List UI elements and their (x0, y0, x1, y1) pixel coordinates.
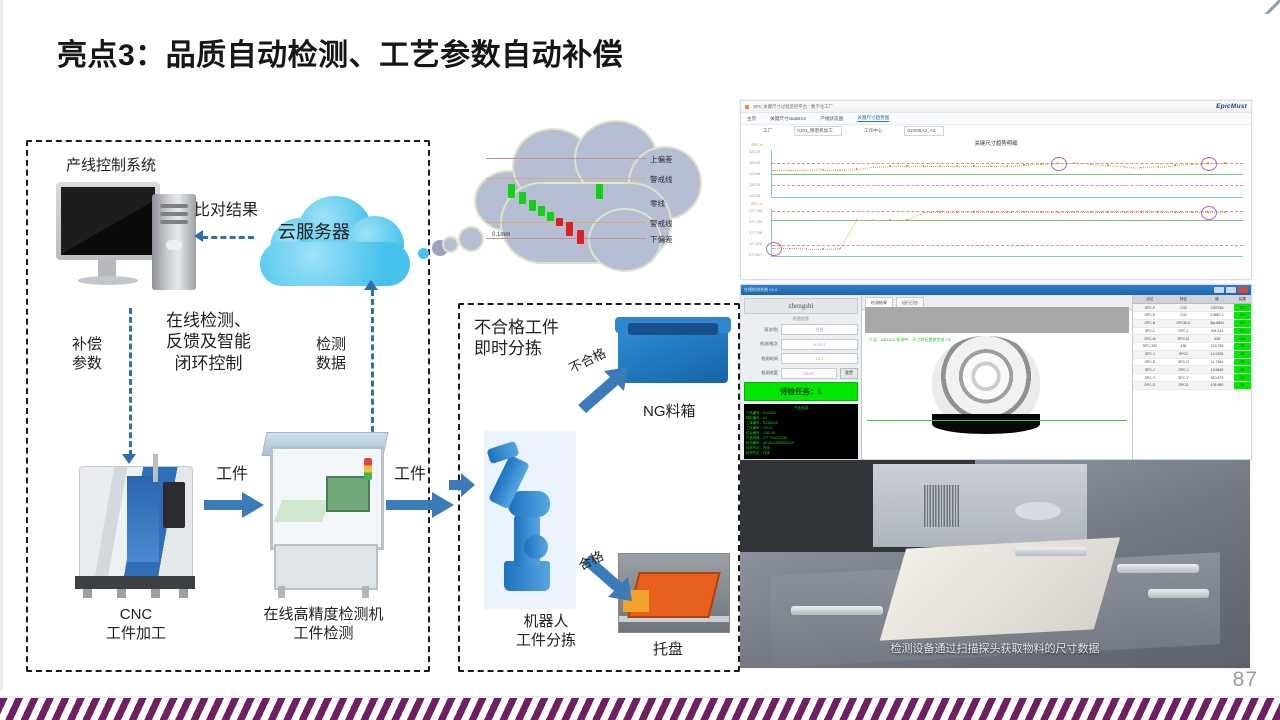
online-detect-label: 在线检测、反馈及智能闭环控制 (166, 310, 251, 374)
spc-chart-0-seg-10 (940, 166, 957, 167)
results-cell-2-0: SPC-B (1133, 319, 1167, 327)
spc-chart-1-point-10[interactable] (940, 211, 942, 213)
spc-menu-item-1[interactable]: 关键尺寸statistics (770, 116, 806, 122)
results-col-3: 结果 (1234, 295, 1251, 304)
spc-chart-1-ytick-1: 277.720 (749, 220, 762, 224)
bubble-unit-label: 0.1mm (492, 232, 510, 238)
results-cell-4-0: SPC-M (1133, 335, 1167, 343)
table-row[interactable]: SPC-JSPC-J13.6848OK (1133, 366, 1251, 374)
results-cell-4-3: OK (1234, 335, 1251, 343)
results-cell-2-3: OK (1234, 319, 1251, 327)
results-cell-9-1: SPC-Y (1167, 374, 1200, 382)
spc-chart-0-seg-23 (1158, 165, 1175, 167)
spc-chart-0-seg-2 (806, 170, 823, 172)
close-button[interactable] (1238, 287, 1248, 293)
spc-chart-0-seg-13 (991, 166, 1008, 167)
results-cell-6-1: SPC1 (1167, 350, 1200, 358)
inspection-field-row-0: 班次/别白班 (744, 324, 858, 335)
inspection-machine-label: 在线高精度检测机工件检测 (256, 606, 391, 644)
spc-chart-0-seg-14 (1007, 165, 1024, 167)
spc-chart-1-seg-22 (1141, 212, 1158, 213)
page-number: 87 (1233, 668, 1258, 692)
spc-chart-0-seg-3 (823, 170, 840, 171)
results-cell-6-0: SPC-1 (1133, 350, 1167, 358)
table-row[interactable]: SPC-LSPC-L324.914OK (1133, 327, 1251, 335)
table-row[interactable]: SPC-YSPC-Y310.673OK (1133, 374, 1251, 382)
results-cell-7-1: SPC-D (1167, 358, 1200, 366)
inspection-field-row-1: 检测/批次A-01-3 (744, 339, 858, 350)
spc-chart-1-seg-15 (1024, 212, 1041, 213)
top-right-corner-mark (1264, 0, 1280, 14)
warn-upper-label: 警戒线 (650, 174, 673, 185)
compare-result-label: 比对结果 (194, 202, 258, 221)
spc-chart-1-point-20[interactable] (1107, 211, 1109, 213)
results-cell-8-0: SPC-J (1133, 366, 1167, 374)
fail-arrow (576, 365, 634, 417)
spc-filter-1-select[interactable]: 01000IA2_A3 (904, 126, 944, 136)
detect-data-label: 检测数据 (316, 336, 346, 374)
spc-chart-0-seg-8 (907, 166, 924, 167)
results-cell-1-1: C43 (1167, 311, 1200, 319)
spc-chart-1-seg-7 (890, 220, 907, 221)
inspection-field-label-0: 班次/别 (744, 327, 778, 333)
scan-image-area: 产品：AB1512 检测中…尺寸特征提取完成 OK (865, 307, 1129, 456)
results-cell-3-3: OK (1234, 327, 1251, 335)
spc-chart-1-seg-17 (1058, 212, 1075, 213)
bottom-stripe-decoration (0, 698, 1280, 720)
spc-chart-1-point-22[interactable] (1140, 211, 1142, 213)
results-cell-5-0: SPC-331 (1133, 343, 1167, 351)
lower-limit-line (486, 238, 646, 239)
results-cell-1-3: OK (1234, 311, 1251, 319)
spc-chart-a-name: SPC-A (751, 143, 763, 147)
spc-chart-1-seg-9 (924, 212, 941, 213)
spc-titlebar: SPC 关键尺寸过程监控平台 · 数字化工厂 EpicMust (741, 101, 1251, 113)
results-cell-2-1: SPCBLD (1167, 319, 1200, 327)
ng-bin-icon (618, 311, 728, 389)
slide-root: 亮点3：品质自动检测、工艺参数自动补偿 产线控制系统 云服务器 (0, 0, 1280, 720)
compare-result-arrowhead (194, 230, 203, 242)
results-table[interactable]: 点位特征值结果 SPC-FC433.8978dOKSPC-EC433.9887-… (1133, 295, 1251, 390)
spc-chart-1-seg-13 (991, 212, 1008, 213)
spc-chart-0-seg-20 (1108, 165, 1125, 167)
spc-chart-0-ytick-1: 123.00 (749, 161, 760, 165)
spc-filter-0-select[interactable]: 0101_精密机加工 (794, 126, 842, 136)
table-row[interactable]: SPC-GSPCG108.980OK (1133, 382, 1251, 390)
inspection-window[interactable]: 在线检测系统 V1.0 zhengshi 检验信息 班次/别白班检测/批次A-0… (740, 284, 1252, 460)
spc-chart-1-seg-16 (1041, 212, 1058, 213)
inspection-field-label-2: 检测时间 (744, 356, 778, 362)
production-control-computer (56, 182, 211, 307)
spc-chart-1-point-15[interactable] (1023, 211, 1025, 213)
scanned-part-image (932, 336, 1040, 432)
inspection-titlebar-text: 在线检测系统 V1.0 (744, 287, 777, 293)
inspection-results-pane[interactable]: 点位特征值结果 SPC-FC433.8978dOKSPC-EC433.9887-… (1132, 295, 1251, 459)
workpiece-arrow-1 (204, 492, 264, 518)
inspection-left-pane: zhengshi 检验信息 班次/别白班检测/批次A-01-3检测时间10.2检… (741, 295, 861, 459)
spc-chart-1-center-line (772, 220, 1243, 221)
spc-chart-1-seg-10 (940, 212, 957, 213)
pc-tower-icon (152, 194, 196, 290)
results-cell-1-2: 3.9887-1 (1200, 311, 1234, 319)
deviation-thought-bubble: 上偏差 警戒线 零线 警戒线 下偏差 0.1mm (456, 120, 710, 280)
spc-titlebar-text: SPC 关键尺寸过程监控平台 · 数字化工厂 (753, 104, 833, 110)
sorting-group: 不合格工件即时分拣 机器人工件分拣 NG料箱 托盘 不合格 (458, 303, 736, 668)
spc-chart-1-seg-14 (1007, 212, 1024, 213)
left-edge-rule (0, 0, 3, 690)
spc-chart-1-point-27[interactable] (1224, 211, 1226, 213)
spc-chart-0-seg-22 (1141, 167, 1158, 169)
detect-data-arrowhead (364, 280, 378, 290)
spc-chart-0-ctl-0 (772, 163, 1243, 164)
spc-chart-0-anomaly-ring-1 (1201, 157, 1217, 171)
results-cell-9-0: SPC-Y (1133, 374, 1167, 382)
spc-chart-0-point-14[interactable] (1007, 165, 1009, 167)
spc-chart-0-seg-5 (857, 167, 874, 170)
process-diagram: 产线控制系统 云服务器 上偏差 警戒线 零线 (26, 140, 736, 668)
results-cell-6-3: OK (1234, 350, 1251, 358)
upper-limit-line (486, 158, 646, 159)
spc-menu-item-3[interactable]: 关键尺寸趋势图 (857, 115, 889, 122)
inspection-field-label-1: 检测/批次 (744, 341, 778, 347)
table-row[interactable]: SPC-DSPC-D11.736sOK (1133, 358, 1251, 366)
results-cell-9-3: OK (1234, 374, 1251, 382)
spc-chart-1-seg-24 (1175, 212, 1192, 213)
sorting-title: 不合格工件即时分拣 (474, 317, 559, 360)
spc-chart-1-anomaly-ring-0 (766, 242, 782, 256)
table-row[interactable]: SPC-MSPC-M.630OK (1133, 335, 1251, 343)
spc-chart-1-ytick-0: 277.745 (749, 209, 762, 213)
spc-menu-item-2[interactable]: 产线状态图 (820, 116, 843, 122)
spc-chart-1-seg-21 (1125, 212, 1142, 213)
cloud-server-label: 云服务器 (278, 222, 350, 243)
results-cell-0-3: OK (1234, 304, 1251, 312)
spc-menu-item-0[interactable]: 主页 (747, 116, 756, 122)
console-footer: 检测节点：在线 (746, 451, 856, 456)
results-cell-0-1: C43 (1167, 304, 1200, 312)
spc-chart-1-seg-23 (1158, 212, 1175, 213)
results-col-0: 点位 (1133, 295, 1167, 304)
results-col-2: 值 (1200, 295, 1234, 304)
spc-chart-1-point-16[interactable] (1040, 211, 1042, 213)
inspection-field-input-3[interactable]: 38/50 (781, 368, 837, 379)
results-cell-4-1: SPC-M (1167, 335, 1200, 343)
inspection-field-reset-button[interactable]: 重置 (840, 368, 858, 379)
spc-chart-0-ytick-3: 122.70 (749, 183, 760, 187)
spc-chart-1-point-24[interactable] (1174, 211, 1176, 213)
spc-chart-0-point-11[interactable] (956, 165, 958, 167)
robot-arm-icon (484, 431, 576, 609)
spc-chart-0-point-1[interactable] (789, 170, 791, 172)
results-cell-6-2: 14.9328 (1200, 350, 1234, 358)
zero-line-label: 零线 (650, 198, 665, 209)
inspection-field-label-3: 检测进度 (744, 370, 778, 376)
spc-filter-bar[interactable]: 工厂 0101_精密机加工 工作中心 01000IA2_A3 (741, 125, 1251, 137)
inspection-field-row-2: 检测时间10.2 (744, 353, 858, 364)
warn-lower-label: 警戒线 (650, 218, 673, 229)
inspection-field-input-2[interactable]: 10.2 (781, 353, 858, 364)
spc-chart-0-seg-1 (790, 170, 807, 171)
results-cell-0-0: SPC-F (1133, 304, 1167, 312)
minimize-button[interactable] (1214, 287, 1224, 293)
spc-chart-0-point-7[interactable] (889, 165, 891, 167)
spc-chart-1-point-14[interactable] (1007, 211, 1009, 213)
table-row[interactable]: SPC-EC433.9887-1OK (1133, 311, 1251, 319)
scan-image-caption: 产品：AB1512 检测中…尺寸特征提取完成 OK (869, 337, 951, 343)
spc-chart-0-seg-6 (873, 166, 890, 168)
spc-chart-0-seg-24 (1175, 164, 1192, 166)
spc-chart-title: 关键尺寸趋势明细 (741, 137, 1251, 147)
results-cell-10-1: SPCG (1167, 382, 1200, 390)
lower-limit-label: 下偏差 (650, 234, 673, 245)
spc-chart-1-point-23[interactable] (1157, 211, 1159, 213)
spc-brand-logo: EpicMust (1216, 103, 1247, 110)
equipment-photo: 检测设备通过扫描探头获取物料的尺寸数据 (740, 460, 1250, 668)
spc-trend-window[interactable]: SPC 关键尺寸过程监控平台 · 数字化工厂 EpicMust 主页 关键尺寸s… (740, 100, 1252, 280)
spc-chart-c[interactable]: SPC-C 277.745277.720277.700277.578277.52… (749, 207, 1245, 265)
detect-data-line (371, 290, 374, 450)
spc-chart-0-point-15[interactable] (1023, 164, 1025, 166)
cnc-machine-icon (71, 460, 201, 600)
results-cell-3-2: 324.914 (1200, 327, 1234, 335)
spc-chart-0-seg-11 (957, 166, 974, 167)
spc-chart-1-seg-19 (1091, 212, 1108, 213)
results-cell-9-2: 310.673 (1200, 374, 1234, 382)
spc-chart-1-ytick-2: 277.700 (749, 231, 762, 235)
table-row[interactable]: SPC-1SPC114.9328OK (1133, 350, 1251, 358)
spc-filter-1-label: 工作中心 (864, 128, 882, 134)
spc-chart-0-seg-7 (890, 166, 907, 167)
spc-chart-1-seg-6 (873, 220, 890, 221)
cloud-bubble-trail-1 (418, 248, 429, 259)
spc-chart-1-seg-5 (857, 220, 874, 221)
table-row[interactable]: SPC-FC433.8978dOK (1133, 304, 1251, 312)
spc-chart-1-ytick-3: 277.578 (749, 242, 762, 246)
spc-chart-1-seg-12 (974, 212, 991, 213)
results-cell-8-1: SPC-J (1167, 366, 1200, 374)
spc-chart-1-point-8[interactable] (906, 219, 908, 221)
cnc-label: CNC工件加工 (81, 606, 191, 644)
robot-label: 机器人工件分拣 (500, 613, 592, 651)
results-cell-8-3: OK (1234, 366, 1251, 374)
equipment-photo-panel: 检测设备通过扫描探头获取物料的尺寸数据 (740, 460, 1250, 668)
results-cell-10-3: OK (1234, 382, 1251, 390)
spc-chart-1-anomaly-ring-1 (1201, 206, 1217, 220)
spc-chart-0-point-8[interactable] (906, 165, 908, 167)
table-row[interactable]: SPC-331435213.759OK (1133, 343, 1251, 351)
spc-chart-1-point-1[interactable] (789, 248, 791, 250)
results-cell-5-3: OK (1234, 343, 1251, 351)
ng-bin-label: NG料箱 (643, 403, 696, 420)
spc-chart-0-point-18[interactable] (1074, 162, 1076, 164)
spc-chart-0-center-line (772, 174, 1243, 175)
spc-chart-0-ytick-4: 122.55 (749, 194, 760, 198)
maximize-button[interactable] (1226, 287, 1236, 293)
pending-task-banner: 待检任务：1 (744, 382, 858, 401)
spc-chart-0-point-10[interactable] (940, 165, 942, 167)
results-cell-7-3: OK (1234, 358, 1251, 366)
inspection-field-input-0[interactable]: 白班 (781, 324, 858, 335)
results-cell-10-0: SPC-G (1133, 382, 1167, 390)
inspection-subheader: 检验信息 (744, 314, 858, 324)
inspection-header: zhengshi (744, 298, 858, 314)
spc-chart-1-seg-18 (1074, 212, 1091, 213)
spc-chart-0-seg-4 (840, 169, 857, 171)
spc-chart-1-point-7[interactable] (889, 219, 891, 221)
table-row[interactable]: SPC-BSPCBLD3ss.6891OK (1133, 319, 1251, 327)
compare-result-arrow-line (202, 236, 254, 239)
inspection-field-list: 班次/别白班检测/批次A-01-3检测时间10.2检测进度38/50重置 (744, 324, 858, 379)
inspection-titlebar: 在线检测系统 V1.0 (741, 285, 1251, 295)
monitor-icon (56, 182, 160, 260)
spc-chart-0-point-27[interactable] (1224, 162, 1226, 164)
inspection-field-input-1[interactable]: A-01-3 (781, 339, 858, 350)
spc-chart-1-seg-11 (957, 212, 974, 213)
results-cell-3-1: SPC-L (1167, 327, 1200, 335)
inspection-console: 产品信息 产品编号：01105A2物料编号：A1工单编号：S1300119工序编… (744, 404, 858, 460)
workpiece-arrow-2 (386, 492, 454, 518)
warn-line-upper (486, 178, 646, 179)
spc-chart-0-seg-15 (1024, 164, 1041, 166)
spc-chart-0-seg-18 (1074, 163, 1091, 165)
spc-chart-0-anomaly-ring-0 (1051, 157, 1067, 171)
workpiece-label-2: 工件 (394, 466, 426, 485)
results-cell-4-2: .630 (1200, 335, 1234, 343)
spc-chart-1-point-19[interactable] (1090, 211, 1092, 213)
tab-inspection-result[interactable]: 检测结果 (865, 297, 893, 307)
results-cell-7-0: SPC-D (1133, 358, 1167, 366)
spc-chart-0-seg-9 (924, 166, 941, 167)
spc-chart-c-name: SPC-C (751, 202, 763, 206)
results-cell-3-0: SPC-L (1133, 327, 1167, 335)
spc-chart-1-seg-2 (806, 249, 823, 250)
spc-chart-1-point-4[interactable] (839, 248, 841, 250)
upper-limit-label: 上偏差 (650, 154, 673, 165)
spc-chart-0-point-24[interactable] (1174, 164, 1176, 166)
spc-chart-a[interactable]: SPC-A 123.15123.00122.85122.70122.55 (749, 148, 1245, 206)
results-cell-2-2: 3ss.6891 (1200, 319, 1234, 327)
photo-caption: 检测设备通过扫描探头获取物料的尺寸数据 (740, 640, 1250, 656)
spc-chart-0-ctl-1 (772, 185, 1243, 186)
inspection-machine-icon (264, 432, 384, 600)
spc-chart-0-point-20[interactable] (1107, 164, 1109, 166)
spc-filter-0-label: 工厂 (763, 128, 772, 134)
spc-chart-0-ytick-0: 123.15 (749, 150, 760, 154)
spc-chart-0-seg-21 (1125, 167, 1142, 169)
results-cell-5-2: 213.759 (1200, 343, 1234, 351)
spc-chart-0-point-19[interactable] (1090, 163, 1092, 165)
spc-chart-1-point-3[interactable] (822, 248, 824, 250)
tab-run-log[interactable]: 运行日志 (896, 297, 924, 307)
spc-chart-0-seg-19 (1091, 164, 1108, 166)
workpiece-label-1: 工件 (216, 466, 248, 485)
spc-chart-0-point-12[interactable] (973, 165, 975, 167)
spc-chart-0-seg-12 (974, 166, 991, 167)
tray-label: 托盘 (653, 641, 683, 658)
spc-chart-1-seg-3 (823, 248, 840, 249)
results-cell-8-2: 13.6848 (1200, 366, 1234, 374)
inspection-image-pane[interactable]: 检测结果 运行日志 产品：AB1512 检测中…尺寸特征提取完成 OK (861, 295, 1132, 459)
spc-chart-0-seg-0 (773, 170, 790, 171)
spc-chart-0-ytick-2: 122.85 (749, 172, 760, 176)
results-cell-10-2: 108.980 (1200, 382, 1234, 390)
inspection-field-row-3: 检测进度38/50重置 (744, 368, 858, 379)
results-cell-0-2: 3.8978d (1200, 304, 1234, 312)
spc-chart-1-seg-1 (790, 248, 807, 249)
spc-chart-1-point-12[interactable] (973, 211, 975, 213)
spc-chart-0-point-0[interactable] (772, 170, 774, 172)
spc-chart-1-seg-20 (1108, 212, 1125, 213)
page-title: 亮点3：品质自动检测、工艺参数自动补偿 (57, 30, 623, 74)
deviation-chart: 上偏差 警戒线 零线 警戒线 下偏差 0.1mm (486, 150, 682, 250)
spc-chart-1-point-18[interactable] (1074, 211, 1076, 213)
control-system-label: 产线控制系统 (66, 157, 156, 174)
results-cell-7-2: 11.736s (1200, 358, 1234, 366)
compensation-param-label: 补偿参数 (72, 336, 102, 374)
sorting-inflow-arrow (449, 473, 475, 497)
spc-chart-1-point-11[interactable] (956, 211, 958, 213)
spc-menubar[interactable]: 主页 关键尺寸statistics 产线状态图 关键尺寸趋势图 (741, 113, 1251, 125)
results-cell-1-0: SPC-E (1133, 311, 1167, 319)
spc-chart-0-point-16[interactable] (1040, 163, 1042, 165)
results-col-1: 特征 (1167, 295, 1200, 304)
spc-chart-1-ytick-4: 277.527 (749, 253, 762, 257)
results-cell-5-1: 435 (1167, 343, 1200, 351)
compensation-param-line (129, 308, 132, 456)
